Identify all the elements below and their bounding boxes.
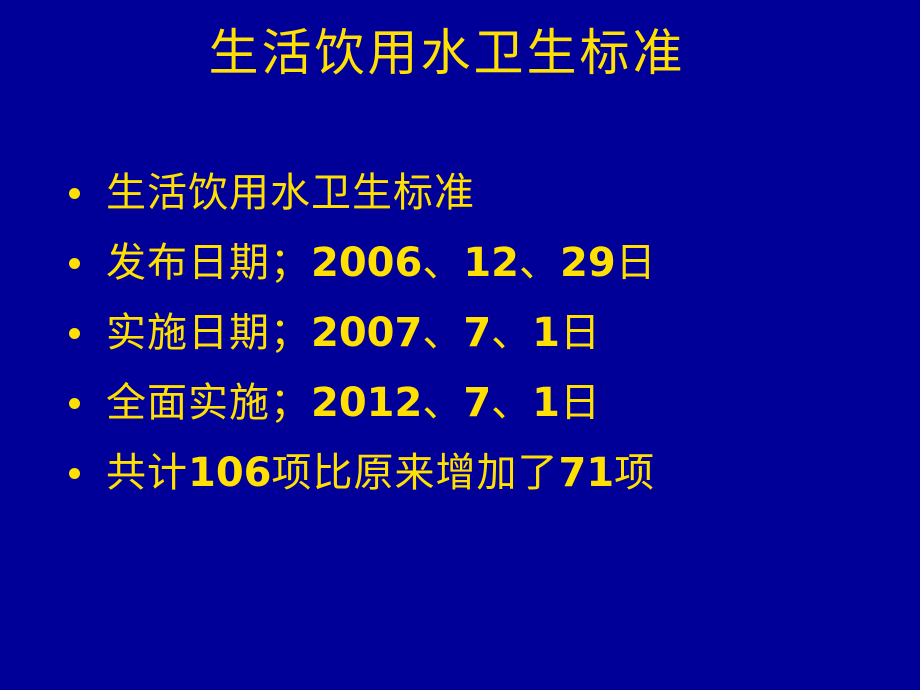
slide-title: 生活饮用水卫生标准 bbox=[0, 22, 920, 84]
numeric-value: 1 bbox=[532, 380, 560, 426]
numeric-value: 71 bbox=[559, 450, 615, 496]
numeric-value: 106 bbox=[188, 450, 272, 496]
list-item: 共计106项比原来增加了71项 bbox=[60, 438, 900, 508]
numeric-value: 7 bbox=[463, 310, 491, 356]
list-item-label: 共计106项比原来增加了71项 bbox=[106, 450, 655, 496]
list-item-label: 全面实施；2012、7、1日 bbox=[106, 380, 601, 426]
numeric-value: 2006 bbox=[311, 240, 422, 286]
bullet-dot-icon bbox=[69, 468, 80, 479]
bullet-dot-icon bbox=[69, 258, 80, 269]
list-item-label: 发布日期；2006、12、29日 bbox=[106, 240, 657, 286]
bullet-dot-icon bbox=[69, 398, 80, 409]
numeric-value: 29 bbox=[560, 240, 616, 286]
bullet-dot-icon bbox=[69, 328, 80, 339]
bullet-list: 生活饮用水卫生标准 发布日期；2006、12、29日 实施日期；2007、7、1… bbox=[60, 158, 900, 508]
list-item: 实施日期；2007、7、1日 bbox=[60, 298, 900, 368]
list-item: 全面实施；2012、7、1日 bbox=[60, 368, 900, 438]
numeric-value: 1 bbox=[532, 310, 560, 356]
list-item: 发布日期；2006、12、29日 bbox=[60, 228, 900, 298]
numeric-value: 12 bbox=[463, 240, 519, 286]
list-item-label: 实施日期；2007、7、1日 bbox=[106, 310, 601, 356]
bullet-dot-icon bbox=[69, 188, 80, 199]
presentation-slide: 生活饮用水卫生标准 生活饮用水卫生标准 发布日期；2006、12、29日 实施日… bbox=[0, 0, 920, 690]
numeric-value: 2012 bbox=[311, 380, 422, 426]
numeric-value: 7 bbox=[463, 380, 491, 426]
list-item-label: 生活饮用水卫生标准 bbox=[106, 170, 475, 216]
list-item: 生活饮用水卫生标准 bbox=[60, 158, 900, 228]
numeric-value: 2007 bbox=[311, 310, 422, 356]
